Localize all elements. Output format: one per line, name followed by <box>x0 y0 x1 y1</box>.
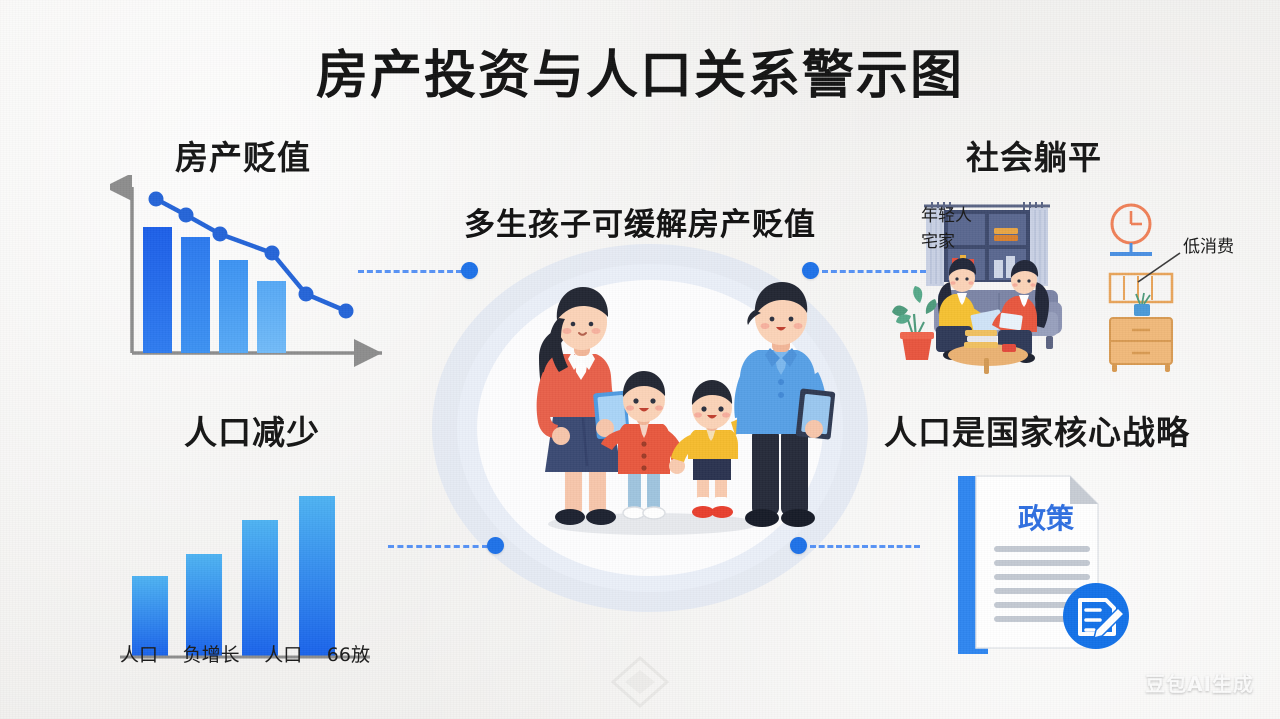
connector-node-top-right <box>802 262 819 279</box>
chart-population-decline-x-labels: 人口 负增长 人口 66放 <box>120 640 370 670</box>
bar-4 <box>257 281 286 353</box>
x-label-4: 66放 <box>327 640 370 667</box>
watermark-text: 豆包AI生成 <box>1145 668 1254 697</box>
family-of-four-illustration <box>415 232 885 622</box>
connector-line-bottom-left <box>388 545 488 548</box>
x-label-2: 负增长 <box>183 640 240 667</box>
connector-node-bottom-left <box>487 537 504 554</box>
connector-node-bottom-right <box>790 537 807 554</box>
connector-line-bottom-right <box>810 545 920 548</box>
bar-4 <box>299 496 335 656</box>
panel-title-population-strategy: 人口是国家核心战略 <box>884 406 1190 454</box>
center-illustration-group <box>415 232 885 622</box>
bar-2 <box>181 237 210 353</box>
x-label-1: 人口 <box>120 640 158 667</box>
page-title: 房产投资与人口关系警示图 <box>0 33 1280 108</box>
connector-node-top-left <box>461 262 478 279</box>
panel-title-population-decline: 人口减少 <box>184 406 320 454</box>
bar-1 <box>143 227 172 353</box>
diamond-logo <box>609 654 671 710</box>
x-label-3: 人口 <box>264 640 302 667</box>
policy-document-title: 政策 <box>1018 502 1074 535</box>
panel-title-social-lying-flat: 社会躺平 <box>966 131 1102 179</box>
center-headline: 多生孩子可缓解房产贬值 <box>0 199 1280 244</box>
bar-3 <box>242 520 278 656</box>
policy-document-illustration: 政策 <box>950 470 1150 660</box>
panel-title-property-depreciation: 房产贬值 <box>175 131 311 179</box>
bar-3 <box>219 260 248 353</box>
slide-canvas: 房产投资与人口关系警示图 <box>0 0 1280 719</box>
leader-line-lowspend <box>1138 253 1180 282</box>
